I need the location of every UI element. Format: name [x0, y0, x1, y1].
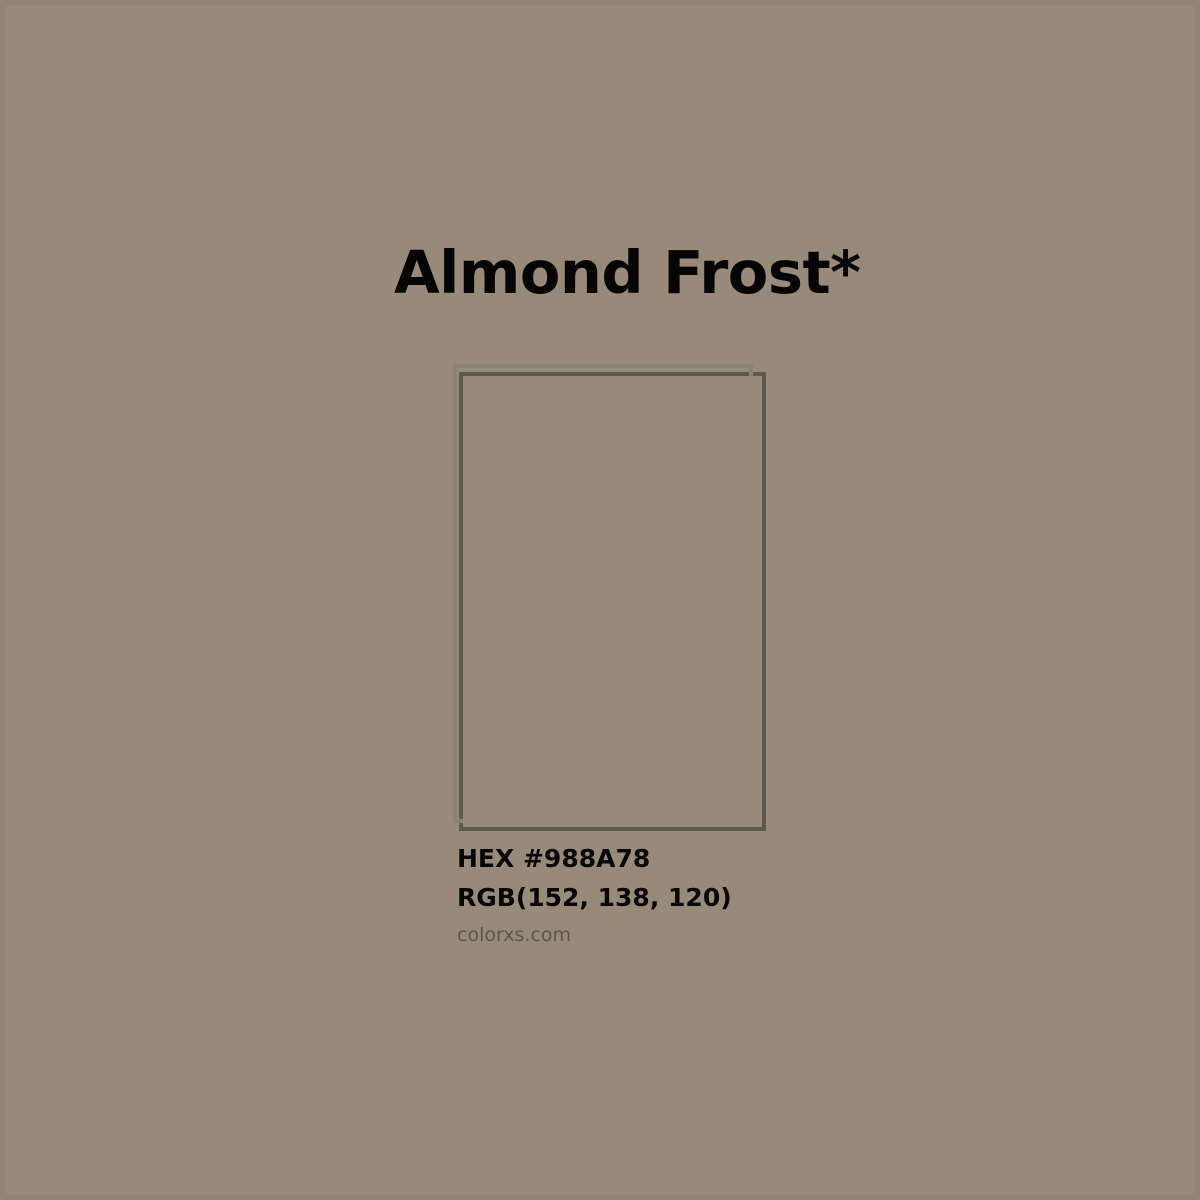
hex-value: HEX #988A78 — [457, 839, 957, 878]
color-swatch — [447, 358, 777, 843]
page-title: Almond Frost* — [394, 240, 861, 306]
color-swatch-page: Almond Frost* HEX #988A78 RGB(152, 138, … — [0, 0, 1200, 1200]
source-website: colorxs.com — [457, 919, 957, 951]
rgb-value: RGB(152, 138, 120) — [457, 878, 957, 917]
swatch-fill — [463, 376, 762, 827]
color-info-block: HEX #988A78 RGB(152, 138, 120) colorxs.c… — [457, 839, 957, 951]
